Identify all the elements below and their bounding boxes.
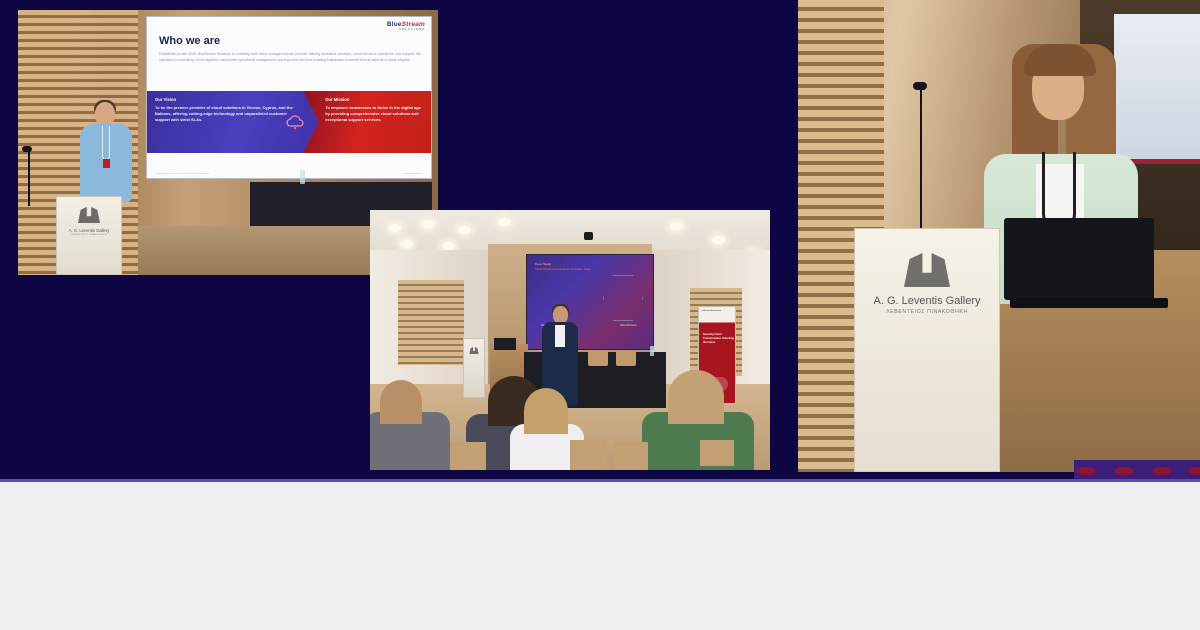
ceiling-light: [422, 220, 435, 228]
slide-bottom-area: Copyright BlueStream Solutions S.A. All …: [147, 153, 431, 178]
podium-sign-name-en: A. G. Leventis Gallery: [57, 228, 121, 233]
microphone-icon: [22, 146, 32, 152]
ceiling-light: [388, 224, 401, 232]
panel-chair: [616, 350, 636, 366]
speaker-figure: [78, 102, 134, 202]
leventis-gallery-logo-icon: [470, 347, 479, 354]
projector: [584, 232, 593, 240]
conference-hall-photo: Case Study Cloud Infrastructure Ready fo…: [370, 210, 770, 470]
audience-chair: [570, 440, 606, 470]
microphone-icon: [913, 82, 927, 90]
slide-title: Who we are: [159, 35, 220, 47]
podium-sign-name-en: A. G. Leventis Gallery: [855, 295, 999, 307]
ceiling-light: [498, 218, 511, 226]
podium: A. G. Leventis Gallery ΛΕΒΕΝΤΕΙΟΣ ΠΙΝΑΚΟ…: [56, 196, 122, 275]
podium: A. G. Leventis Gallery ΛΕΒΕΝΤΕΙΟΣ ΠΙΝΑΚΟ…: [854, 228, 1000, 472]
hall-slide-logo-right: BlueStream: [620, 323, 637, 327]
slide-mission-text: To empower businesses to thrive in the d…: [325, 105, 423, 124]
leventis-gallery-logo-icon: [904, 253, 950, 287]
hall-slide-subtitle: Cloud Infrastructure Ready for the Futur…: [535, 268, 591, 271]
audience-head: [380, 380, 422, 424]
banner-logos: adacom bluestream: [702, 310, 721, 312]
hero-band: BlueStream SOLUTIONS Who we are Establis…: [0, 0, 1200, 482]
slide-bluestream-logo: BlueStream SOLUTIONS: [387, 22, 425, 31]
podium-sign-name-gr: ΛΕΒΕΝΤΕΙΟΣ ΠΙΝΑΚΟΘΗΚΗ: [855, 309, 999, 315]
audience-head: [668, 370, 724, 424]
slide-body-text: Established in late 2008, BlueStream Sol…: [159, 51, 421, 64]
leventis-gallery-logo-icon: [78, 207, 100, 223]
microphone-stand: [28, 150, 30, 206]
audience-chair: [614, 442, 648, 470]
slide-mission-heading: Our Mission: [325, 97, 423, 102]
audience-member: [642, 378, 754, 470]
laptop: [1004, 218, 1154, 300]
panel-chair: [588, 350, 608, 366]
slide-logo-blue: Blue: [387, 21, 402, 28]
badge: [103, 159, 110, 168]
slide-logo-sub: SOLUTIONS: [387, 29, 425, 32]
banner-headline: Securing Cloud Transformation Unlocking …: [703, 333, 735, 344]
projection-screen: BlueStream SOLUTIONS Who we are Establis…: [146, 16, 432, 179]
wood-slat-panel-left: [398, 280, 464, 365]
audience-member: [370, 396, 450, 470]
water-bottle: [650, 346, 654, 356]
speaker-shirt: [555, 325, 565, 347]
podium-speaker-photo: A. G. Leventis Gallery ΛΕΒΕΝΤΕΙΟΣ ΠΙΝΑΚΟ…: [798, 0, 1200, 472]
slide-panels: Our Vision To be the premier provider of…: [147, 91, 431, 153]
footer-band: BlueStream SOLUTIONS ADAC SECURITY BUILT…: [0, 482, 1200, 630]
hall-slide-label: Case Study: [535, 262, 551, 266]
slide-logo-red: Stream: [402, 21, 425, 28]
slide-footer-left: Copyright BlueStream Solutions S.A. All …: [155, 173, 209, 175]
slide-mission-panel: Our Mission To empower businesses to thr…: [303, 91, 431, 153]
audience-head: [524, 388, 568, 434]
ceiling-light: [712, 236, 725, 244]
laptop: [494, 338, 516, 350]
water-bottle: [300, 170, 305, 184]
poster-canvas: BlueStream SOLUTIONS Who we are Establis…: [0, 0, 1200, 630]
slide-vision-heading: Our Vision: [155, 97, 295, 102]
ceiling-light: [400, 240, 413, 248]
podium-sign-name-gr: ΛΕΒΕΝΤΕΙΟΣ ΠΙΝΑΚΟΘΗΚΗ: [57, 234, 121, 236]
cloud-icon: [284, 114, 306, 130]
microphone-stand: [920, 86, 922, 236]
speaker-head: [95, 102, 115, 126]
audience-chair: [450, 442, 486, 470]
ceiling-light: [458, 226, 471, 234]
slide-footer-right: www.bluestream.gr: [404, 173, 423, 175]
ceiling-light: [442, 242, 455, 250]
slide-vision-panel: Our Vision To be the premier provider of…: [147, 91, 303, 153]
speaker-hair-top: [1024, 44, 1096, 76]
lanyard: [102, 126, 110, 160]
slide-vision-text: To be the premier provider of cloud solu…: [155, 105, 295, 124]
audience-chair: [700, 440, 734, 466]
ceiling-light: [670, 222, 683, 230]
hexagon-graphic: [603, 275, 643, 321]
